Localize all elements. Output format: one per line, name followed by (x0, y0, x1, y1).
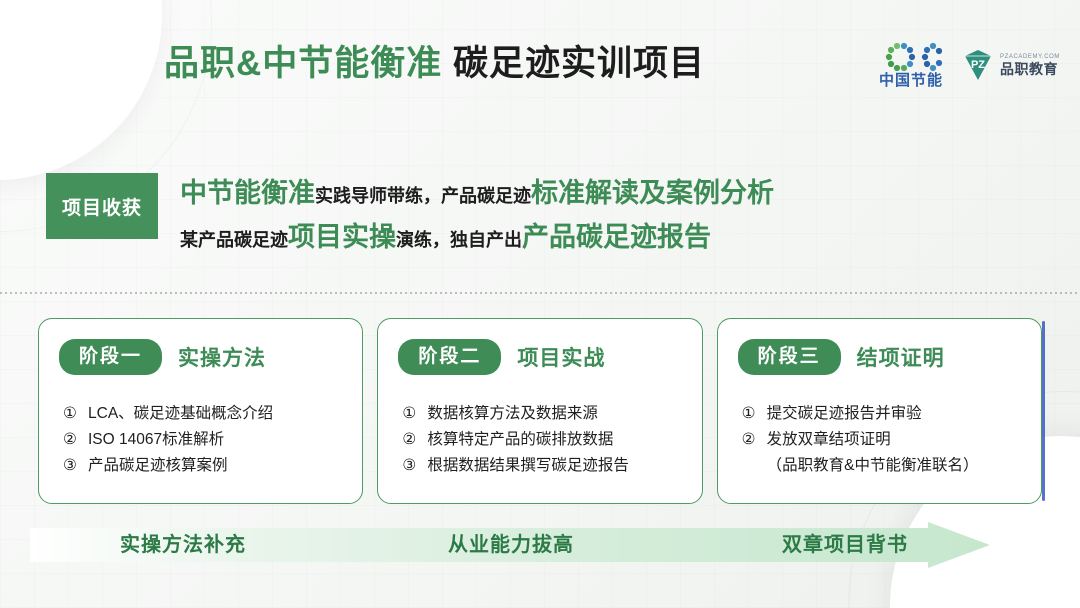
co-dots-icon (880, 42, 942, 72)
slide-header: 品职&中节能衡准 碳足迹实训项目 (0, 38, 1080, 98)
list-item-text: 发放双章结项证明 (767, 427, 891, 453)
harvest-segment: 项目实操 (288, 222, 396, 252)
arrow-label-1: 实操方法补充 (120, 522, 246, 568)
list-item-text: 提交碳足迹报告并审验 (767, 401, 922, 427)
harvest-section: 项目收获 中节能衡准实践导师带练，产品碳足迹标准解读及案例分析 某产品碳足迹项目… (46, 173, 1046, 263)
slide-canvas: 品职&中节能衡准 碳足迹实训项目 (0, 0, 1080, 608)
stage-title: 结项证明 (857, 342, 945, 372)
list-item-text: LCA、碳足迹基础概念介绍 (88, 401, 273, 427)
stage-card-header: 阶段三结项证明 (738, 339, 945, 375)
logo-pz-text: PZACADEMY.COM 品职教育 (1000, 53, 1060, 77)
pz-diamond-icon: PZ (961, 48, 995, 82)
stage-card[interactable]: 阶段一实操方法①LCA、碳足迹基础概念介绍②ISO 14067标准解析③产品碳足… (38, 318, 363, 504)
stage-pill: 阶段二 (398, 339, 501, 375)
harvest-segment: 演练，独自产出 (396, 230, 522, 250)
harvest-badge: 项目收获 (46, 173, 158, 239)
arrow-label-2: 从业能力拔高 (448, 522, 574, 568)
list-item-text: 产品碳足迹核算案例 (88, 453, 228, 479)
stage-item-list: ①提交碳足迹报告并审验②发放双章结项证明（品职教育&中节能衡准联名） (742, 401, 1029, 479)
stage-list-item: ①数据核算方法及数据来源 (402, 401, 689, 427)
list-item-number: ③ (402, 453, 418, 479)
stage-list-item: （品职教育&中节能衡准联名） (742, 453, 1029, 479)
page-title: 品职&中节能衡准 碳足迹实训项目 (164, 38, 705, 90)
list-item-number: ② (742, 427, 758, 453)
svg-text:PZ: PZ (971, 59, 985, 71)
logo-cecep: 中国节能 (879, 42, 943, 88)
stage-list-item: ②发放双章结项证明 (742, 427, 1029, 453)
stage-list-item: ①提交碳足迹报告并审验 (742, 401, 1029, 427)
harvest-segment: 某产品碳足迹 (180, 230, 288, 250)
harvest-segment: 标准解读及案例分析 (531, 178, 774, 208)
arrow-label-3: 双章项目背书 (782, 522, 908, 568)
stage-list-item: ①LCA、碳足迹基础概念介绍 (63, 401, 350, 427)
list-item-text: 数据核算方法及数据来源 (427, 401, 598, 427)
harvest-line-1: 中节能衡准实践导师带练，产品碳足迹标准解读及案例分析 (180, 171, 774, 210)
stage-list-item: ③根据数据结果撰写碳足迹报告 (402, 453, 689, 479)
harvest-line-2: 某产品碳足迹项目实操演练，独自产出产品碳足迹报告 (180, 215, 711, 254)
stage-list-item: ②ISO 14067标准解析 (63, 427, 350, 453)
list-item-text: ISO 14067标准解析 (88, 427, 224, 453)
stage-card-list: 阶段一实操方法①LCA、碳足迹基础概念介绍②ISO 14067标准解析③产品碳足… (38, 318, 1042, 504)
stage-card-header: 阶段二项目实战 (398, 339, 605, 375)
stage-card[interactable]: 阶段三结项证明①提交碳足迹报告并审验②发放双章结项证明（品职教育&中节能衡准联名… (717, 318, 1042, 504)
page-title-green: 品职&中节能衡准 (164, 44, 442, 83)
list-item-number: ① (63, 401, 79, 427)
stage-title: 实操方法 (178, 342, 266, 372)
stage-item-list: ①LCA、碳足迹基础概念介绍②ISO 14067标准解析③产品碳足迹核算案例 (63, 401, 350, 479)
stage-pill: 阶段三 (738, 339, 841, 375)
logo-pz-label: 品职教育 (1000, 61, 1060, 77)
stage-title: 项目实战 (517, 342, 605, 372)
list-item-text: 核算特定产品的碳排放数据 (427, 427, 613, 453)
list-item-number: ② (402, 427, 418, 453)
stage-pill: 阶段一 (59, 339, 162, 375)
page-title-black: 碳足迹实训项目 (442, 44, 705, 83)
stage-card-header: 阶段一实操方法 (59, 339, 266, 375)
logo-pz: PZ PZACADEMY.COM 品职教育 (961, 48, 1060, 82)
list-item-text: 根据数据结果撰写碳足迹报告 (427, 453, 629, 479)
list-item-number: ① (742, 401, 758, 427)
stage-list-item: ③产品碳足迹核算案例 (63, 453, 350, 479)
logo-cecep-label: 中国节能 (879, 73, 943, 88)
outcome-arrow-banner: 实操方法补充 从业能力拔高 双章项目背书 (30, 522, 990, 568)
logo-pz-url: PZACADEMY.COM (1000, 53, 1060, 61)
list-item-number: ② (63, 427, 79, 453)
harvest-segment: 实践导师带练，产品碳足迹 (315, 186, 531, 206)
logo-group: 中国节能 PZ PZACADEMY.COM 品职教育 (879, 42, 1060, 88)
stage-list-item: ②核算特定产品的碳排放数据 (402, 427, 689, 453)
dotted-divider (0, 292, 1080, 294)
stage-card[interactable]: 阶段二项目实战①数据核算方法及数据来源②核算特定产品的碳排放数据③根据数据结果撰… (377, 318, 702, 504)
list-item-number: ① (402, 401, 418, 427)
stage-item-list: ①数据核算方法及数据来源②核算特定产品的碳排放数据③根据数据结果撰写碳足迹报告 (402, 401, 689, 479)
harvest-segment: 产品碳足迹报告 (522, 222, 711, 252)
list-item-text: （品职教育&中节能衡准联名） (767, 453, 979, 479)
list-item-number: ③ (63, 453, 79, 479)
harvest-segment: 中节能衡准 (180, 178, 315, 208)
